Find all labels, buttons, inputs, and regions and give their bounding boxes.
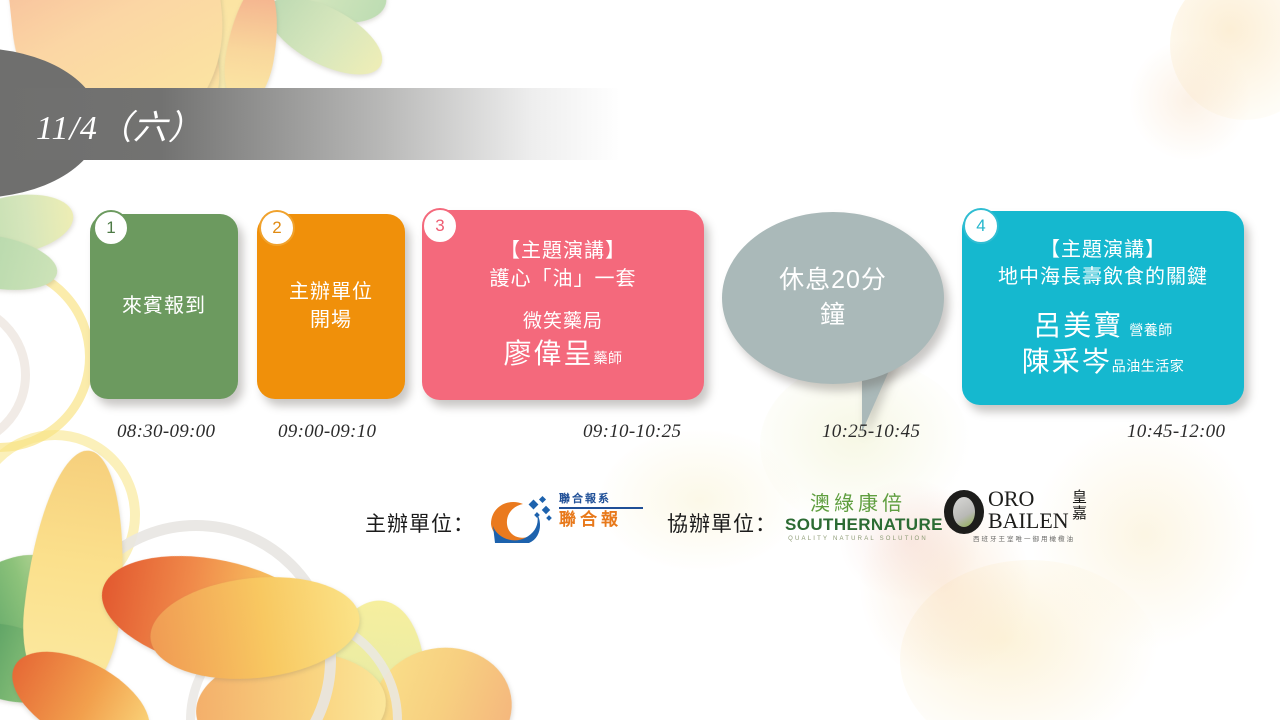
speaker-role: 品油生活家 [1112,358,1185,376]
coorganizer-label: 協辦單位： [667,508,777,538]
session-title-line2: 開場 [310,307,352,335]
oro-line1: ORO [988,488,1069,510]
session-title-line1: 【主題演講】 [1040,237,1166,265]
session-time-3: 09:10-10:25 [583,421,681,443]
session-number-badge-3: 3 [422,208,458,244]
session-title-line1: 主辦單位 [289,279,373,307]
southernature-en-name: SOUTHERNATURE [785,515,931,535]
break-text: 休息20分 鐘 [773,263,893,333]
session-title: 來賓報到 [122,293,206,321]
speaker-name: 呂美寶 [1033,308,1123,344]
session-speaker: 呂美寶 營養師 [1033,308,1173,344]
session-time-1: 08:30-09:00 [117,421,215,443]
session-time-5: 10:45-12:00 [1127,421,1225,443]
udn-bottom-text: 聯合報 [559,511,645,530]
organizer-label: 主辦單位： [365,508,475,538]
session-title-line2: 護心「油」一套 [490,266,637,294]
olive-oval-icon [944,490,984,534]
session-organization: 微笑藥局 [523,309,603,336]
udn-wave-icon [483,494,555,544]
speaker-name: 廖偉呈 [503,336,593,372]
session-number-badge-2: 2 [259,210,295,246]
oro-wordmark: ORO BAILEN [988,488,1069,532]
session-title-line1: 【主題演講】 [500,238,626,266]
break-text-line1: 休息20分 [779,266,887,294]
agenda-timeline: 來賓報到 1 主辦單位 開場 2 【主題演講】 護心「油」一套 微笑藥局 廖偉呈… [0,0,1280,720]
speaker-role: 營養師 [1129,322,1173,340]
southernature-cn-name: 澳綠康倍 [785,492,931,515]
session-card-3[interactable]: 【主題演講】 護心「油」一套 微笑藥局 廖偉呈 藥師 [422,210,704,400]
slide-canvas: 11/4（六） 來賓報到 1 主辦單位 開場 2 【主題演講】 護心「油」一套 … [0,0,1280,720]
session-speaker: 陳采岑 品油生活家 [1022,344,1185,380]
oro-line2: BAILEN [988,510,1069,532]
udn-top-text: 聯合報系 [559,493,645,505]
oro-cn-name: 皇 嘉 [1072,489,1087,521]
oro-cn-line2: 嘉 [1072,505,1087,521]
session-time-4: 10:25-10:45 [822,421,920,443]
session-speaker: 廖偉呈 藥師 [503,336,622,372]
udn-divider [559,507,643,509]
session-title-line2: 地中海長壽飲食的關鍵 [998,264,1208,292]
break-text-line2: 鐘 [820,301,846,329]
speaker-role: 藥師 [594,350,623,368]
organizer-logo-udn: 聯合報系 聯合報 [483,490,645,548]
coorganizer-logo-orobailen: ORO BAILEN 皇 嘉 西班牙王室唯一御用橄欖油 [944,488,1112,548]
break-bubble[interactable]: 休息20分 鐘 [722,212,952,432]
udn-wordmark: 聯合報系 聯合報 [559,493,645,530]
oro-cn-line1: 皇 [1072,489,1087,505]
coorganizer-logo-southernature: 澳綠康倍 SOUTHERNATURE QUALITY NATURAL SOLUT… [785,492,931,546]
session-time-2: 09:00-09:10 [278,421,376,443]
southernature-tagline: QUALITY NATURAL SOLUTION [785,535,931,543]
olive-oval-inner [953,497,975,527]
oro-tagline: 西班牙王室唯一御用橄欖油 [944,533,1104,543]
speaker-name: 陳采岑 [1022,344,1112,380]
session-card-4[interactable]: 【主題演講】 地中海長壽飲食的關鍵 呂美寶 營養師 陳采岑 品油生活家 [962,211,1244,405]
session-number-badge-4: 4 [963,208,999,244]
bubble-body: 休息20分 鐘 [722,212,944,384]
session-number-badge-1: 1 [93,210,129,246]
